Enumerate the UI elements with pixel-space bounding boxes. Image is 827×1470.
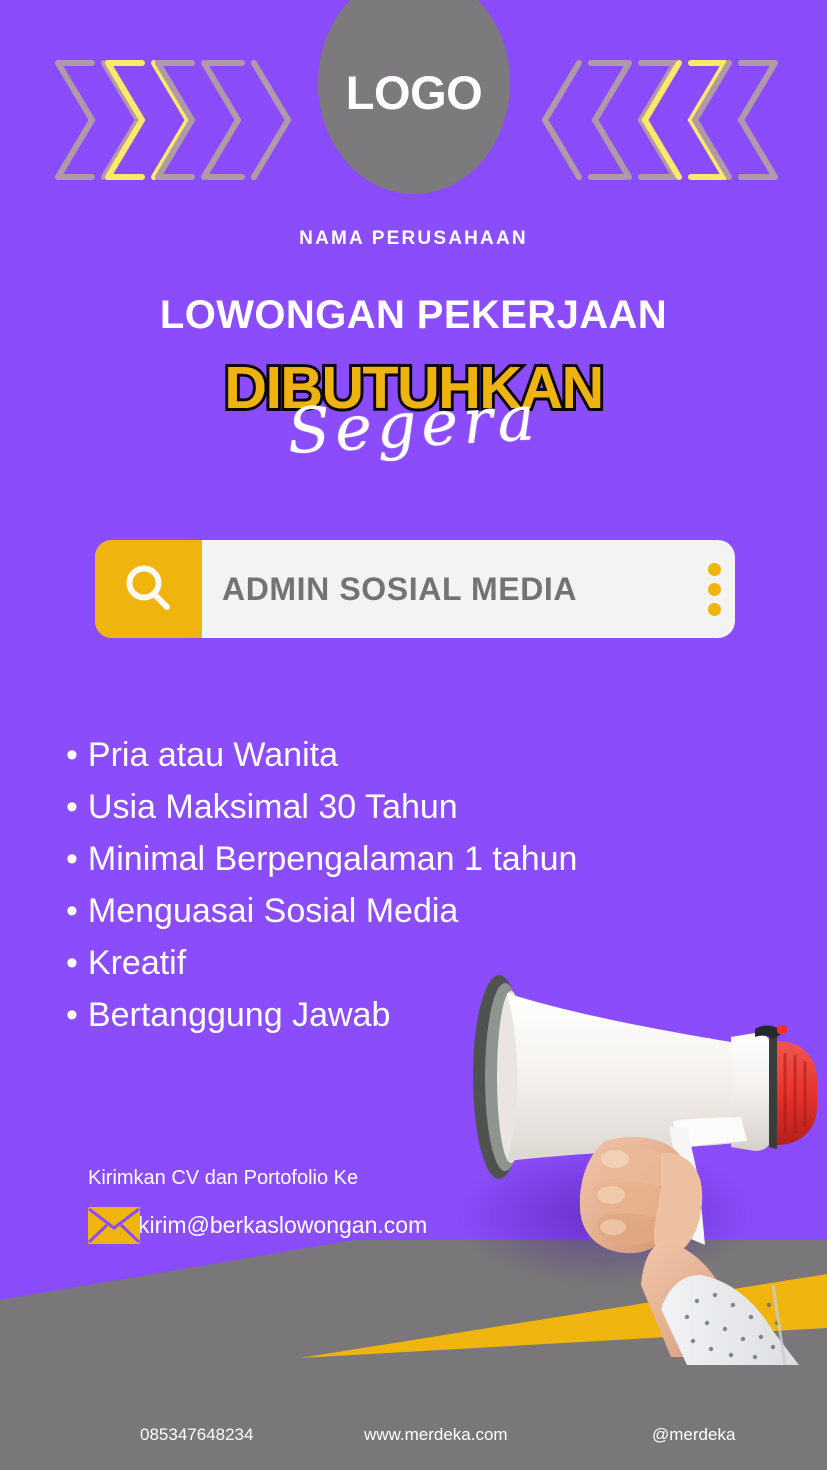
search-button[interactable] <box>95 540 202 638</box>
kebab-menu-icon[interactable] <box>708 563 721 616</box>
page-title: LOWONGAN PEKERJAAN <box>0 293 827 338</box>
kebab-dot <box>708 603 721 616</box>
footer-website: www.merdeka.com <box>364 1425 508 1445</box>
position-search-bar[interactable]: ADMIN SOSIAL MEDIA <box>95 540 735 638</box>
chevron-left-decor-group <box>545 55 777 185</box>
list-item-label: Pria atau Wanita <box>88 736 338 774</box>
list-item-label: Menguasai Sosial Media <box>88 892 458 930</box>
list-item: •Menguasai Sosial Media <box>66 894 766 928</box>
bullet-icon: • <box>66 998 78 1032</box>
list-item: •Pria atau Wanita <box>66 738 766 772</box>
list-item-label: Bertanggung Jawab <box>88 996 390 1034</box>
footer-social-handle: @merdeka <box>652 1425 735 1445</box>
contact-instruction: Kirimkan CV dan Portofolio Ke <box>88 1168 427 1188</box>
footer-phone: 085347648234 <box>140 1425 253 1445</box>
list-item-label: Kreatif <box>88 944 186 982</box>
job-vacancy-poster: LOGO <box>0 0 827 1470</box>
list-item-label: Minimal Berpengalaman 1 tahun <box>88 840 578 878</box>
poster-footer: 085347648234 www.merdeka.com @merdeka <box>0 1425 827 1470</box>
search-input-value: ADMIN SOSIAL MEDIA <box>222 571 577 608</box>
contact-email-row[interactable]: kirim@berkaslowongan.com <box>88 1207 427 1244</box>
list-item: •Bertanggung Jawab <box>66 998 766 1032</box>
poster-header: LOGO <box>0 0 827 215</box>
needed-title-group: DIBUTUHKAN DIBUTUHKAN Segera <box>0 358 827 488</box>
list-item: •Usia Maksimal 30 Tahun <box>66 790 766 824</box>
contact-section: Kirimkan CV dan Portofolio Ke kirim@berk… <box>88 1168 427 1244</box>
bullet-icon: • <box>66 946 78 980</box>
logo-placeholder-circle: LOGO <box>318 0 510 194</box>
bullet-icon: • <box>66 790 78 824</box>
envelope-icon <box>88 1207 140 1244</box>
company-name: NAMA PERUSAHAAN <box>0 228 827 250</box>
search-input[interactable]: ADMIN SOSIAL MEDIA <box>202 540 735 638</box>
search-icon <box>122 562 176 616</box>
chevron-right-icon <box>202 55 288 185</box>
kebab-dot <box>708 583 721 596</box>
logo-text: LOGO <box>346 69 482 116</box>
list-item-label: Usia Maksimal 30 Tahun <box>88 788 458 826</box>
list-item: •Minimal Berpengalaman 1 tahun <box>66 842 766 876</box>
contact-email-address[interactable]: kirim@berkaslowongan.com <box>138 1214 427 1237</box>
chevron-right-decor-group <box>52 55 284 185</box>
list-item: •Kreatif <box>66 946 766 980</box>
bullet-icon: • <box>66 738 78 772</box>
chevron-left-icon <box>695 55 781 185</box>
bullet-icon: • <box>66 842 78 876</box>
requirements-list: •Pria atau Wanita •Usia Maksimal 30 Tahu… <box>66 738 766 1050</box>
bullet-icon: • <box>66 894 78 928</box>
kebab-dot <box>708 563 721 576</box>
